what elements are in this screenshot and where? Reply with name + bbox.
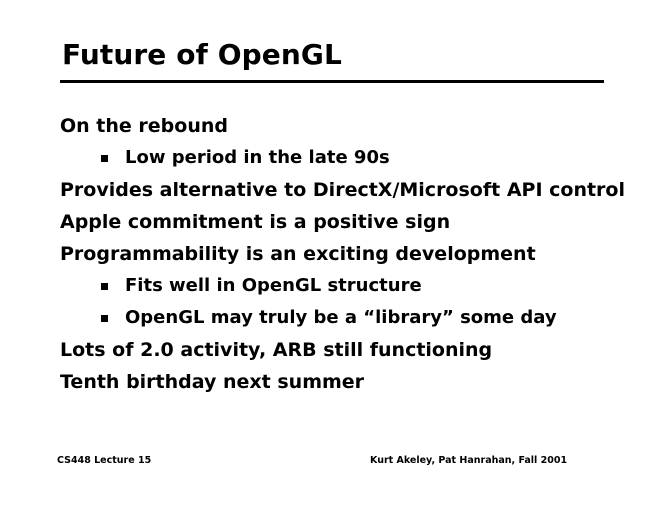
list-item-label: Programmability is an exciting developme… xyxy=(60,238,536,270)
list-item-label: Fits well in OpenGL structure xyxy=(125,270,422,302)
presentation-slide: Future of OpenGL On the reboundLow perio… xyxy=(0,0,660,510)
list-item: Fits well in OpenGL structure xyxy=(60,270,620,302)
list-item-label: Tenth birthday next summer xyxy=(60,366,364,398)
title-block: Future of OpenGL xyxy=(62,38,607,72)
list-item: OpenGL may truly be a “library” some day xyxy=(60,302,620,334)
list-item: Apple commitment is a positive sign xyxy=(60,206,620,238)
list-item: Provides alternative to DirectX/Microsof… xyxy=(60,174,620,206)
list-item-label: OpenGL may truly be a “library” some day xyxy=(125,302,557,334)
list-item-label: Lots of 2.0 activity, ARB still function… xyxy=(60,334,492,366)
page-title: Future of OpenGL xyxy=(62,38,607,72)
title-underline-rule xyxy=(60,80,604,83)
list-item: On the rebound xyxy=(60,110,620,142)
square-bullet-icon xyxy=(101,283,108,290)
list-item: Lots of 2.0 activity, ARB still function… xyxy=(60,334,620,366)
square-bullet-icon xyxy=(101,155,108,162)
list-item-label: Apple commitment is a positive sign xyxy=(60,206,450,238)
list-item: Tenth birthday next summer xyxy=(60,366,620,398)
footer-authors-label: Kurt Akeley, Pat Hanrahan, Fall 2001 xyxy=(370,455,567,466)
list-item-label: On the rebound xyxy=(60,110,228,142)
slide-footer: CS448 Lecture 15 Kurt Akeley, Pat Hanrah… xyxy=(57,455,603,471)
square-bullet-icon xyxy=(101,315,108,322)
list-item-label: Provides alternative to DirectX/Microsof… xyxy=(60,174,625,206)
list-item: Low period in the late 90s xyxy=(60,142,620,174)
list-item: Programmability is an exciting developme… xyxy=(60,238,620,270)
footer-lecture-label: CS448 Lecture 15 xyxy=(57,455,151,466)
slide-bullet-list: On the reboundLow period in the late 90s… xyxy=(60,110,620,398)
list-item-label: Low period in the late 90s xyxy=(125,142,390,174)
